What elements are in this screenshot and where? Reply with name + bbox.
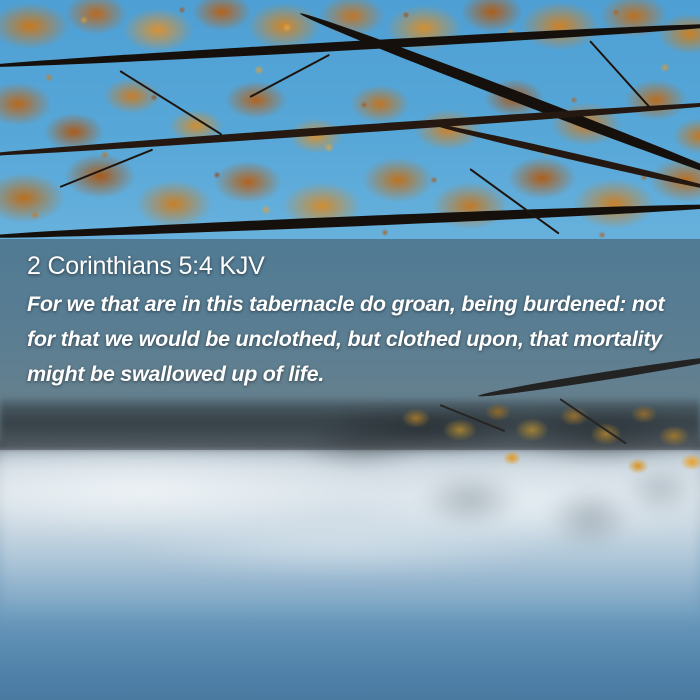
verse-body-text: For we that are in this tabernacle do gr… [27,287,678,392]
verse-reference: 2 Corinthians 5:4 KJV [27,250,678,282]
verse-image-card: 2 Corinthians 5:4 KJV For we that are in… [0,0,700,700]
autumn-leaf-canopy [0,0,700,250]
verse-text-block: 2 Corinthians 5:4 KJV For we that are in… [0,239,700,450]
